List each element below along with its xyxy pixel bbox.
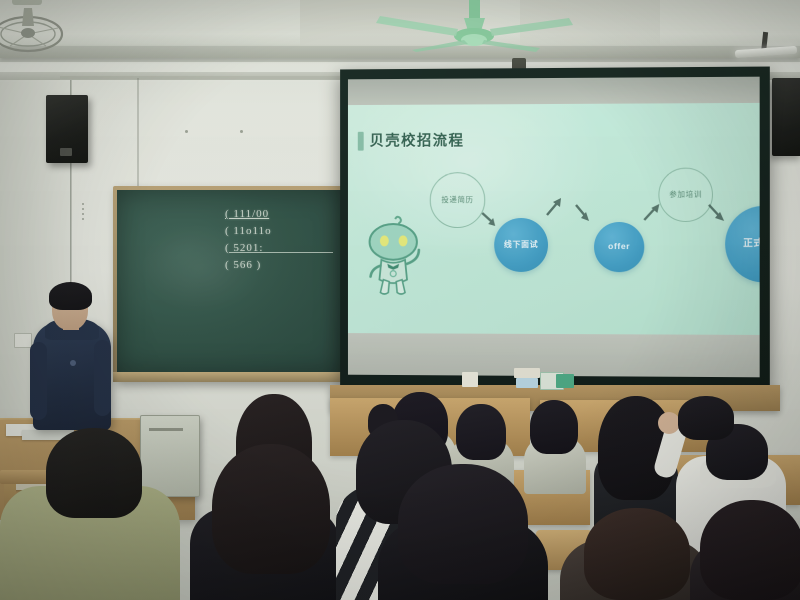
- slide-title: 贝壳校招流程: [370, 129, 465, 150]
- flow-arrow-3: [574, 202, 594, 224]
- chalk-underline: [229, 252, 333, 253]
- classroom-photo: ( 111/00 ( 11o11o ( 5201: ( 566 ) 贝壳校招流程: [0, 0, 800, 600]
- chalk-tray: [113, 372, 345, 382]
- projection-screen: 贝壳校招流程: [340, 67, 770, 390]
- flow-node-5: 正式入职: [725, 206, 760, 283]
- flow-node-label: offer: [608, 242, 630, 252]
- presenter-hair: [49, 282, 92, 310]
- wall-speaker-right: [772, 78, 800, 156]
- flow-node-label: 参加培训: [669, 190, 702, 199]
- wall-nail: [240, 130, 243, 133]
- wall-speaker-left: [46, 95, 88, 163]
- ledge-box[interactable]: [516, 378, 538, 388]
- screen-band-top: [348, 77, 760, 105]
- wall-seam: [137, 78, 139, 190]
- wall-nail: [185, 130, 188, 133]
- flow-node-label: 投递简历: [441, 196, 473, 205]
- flow-arrow-1: [480, 210, 500, 230]
- screen-band-bottom: [348, 333, 760, 377]
- flow-node-3: offer: [594, 222, 644, 272]
- flow-node-label: 正式入职: [743, 239, 759, 250]
- flow-arrow-5: [707, 202, 729, 224]
- ledge-box[interactable]: [462, 372, 478, 387]
- chalkboard-writing: ( 111/00 ( 11o11o ( 5201: ( 566 ): [223, 206, 335, 274]
- chalk-line: ( 11o11o: [223, 223, 335, 240]
- chalk-line: ( 111/00: [223, 206, 335, 223]
- beike-robot-mascot-icon: [362, 214, 431, 298]
- desktop-pc-tower: [140, 415, 200, 497]
- recruitment-flow-diagram: 投递简历 线下面试 offer 参加培训 正式入职: [348, 165, 760, 316]
- flow-node-2: 线下面试: [494, 218, 548, 272]
- screen-surface: 贝壳校招流程: [348, 77, 760, 378]
- flow-node-label: 线下面试: [504, 240, 538, 249]
- ledge-box[interactable]: [514, 368, 540, 378]
- chalkboard: ( 111/00 ( 11o11o ( 5201: ( 566 ): [113, 186, 345, 382]
- chalkboard-surface: ( 111/00 ( 11o11o ( 5201: ( 566 ): [117, 190, 341, 372]
- chalk-line: ( 5201:: [223, 240, 335, 257]
- presentation-slide: 贝壳校招流程: [348, 103, 760, 335]
- title-accent-bar: [358, 132, 364, 151]
- light-switch-plate[interactable]: [14, 333, 32, 348]
- wall-fan-icon: [0, 0, 66, 58]
- flow-arrow-4: [642, 202, 662, 224]
- flow-arrow-2: [544, 196, 564, 218]
- presenter-arm-right: [94, 340, 111, 416]
- presenter-logo: [70, 360, 76, 366]
- ledge-box-green[interactable]: [556, 374, 574, 388]
- flow-node-1: 投递简历: [430, 172, 486, 228]
- chalk-line: ( 566 ): [223, 257, 335, 274]
- presenter-arm-left: [30, 342, 47, 420]
- hand: [658, 412, 680, 434]
- flow-node-4: 参加培训: [658, 168, 713, 222]
- ceiling-fan-icon: [372, 0, 577, 52]
- wall-marks: [82, 200, 84, 223]
